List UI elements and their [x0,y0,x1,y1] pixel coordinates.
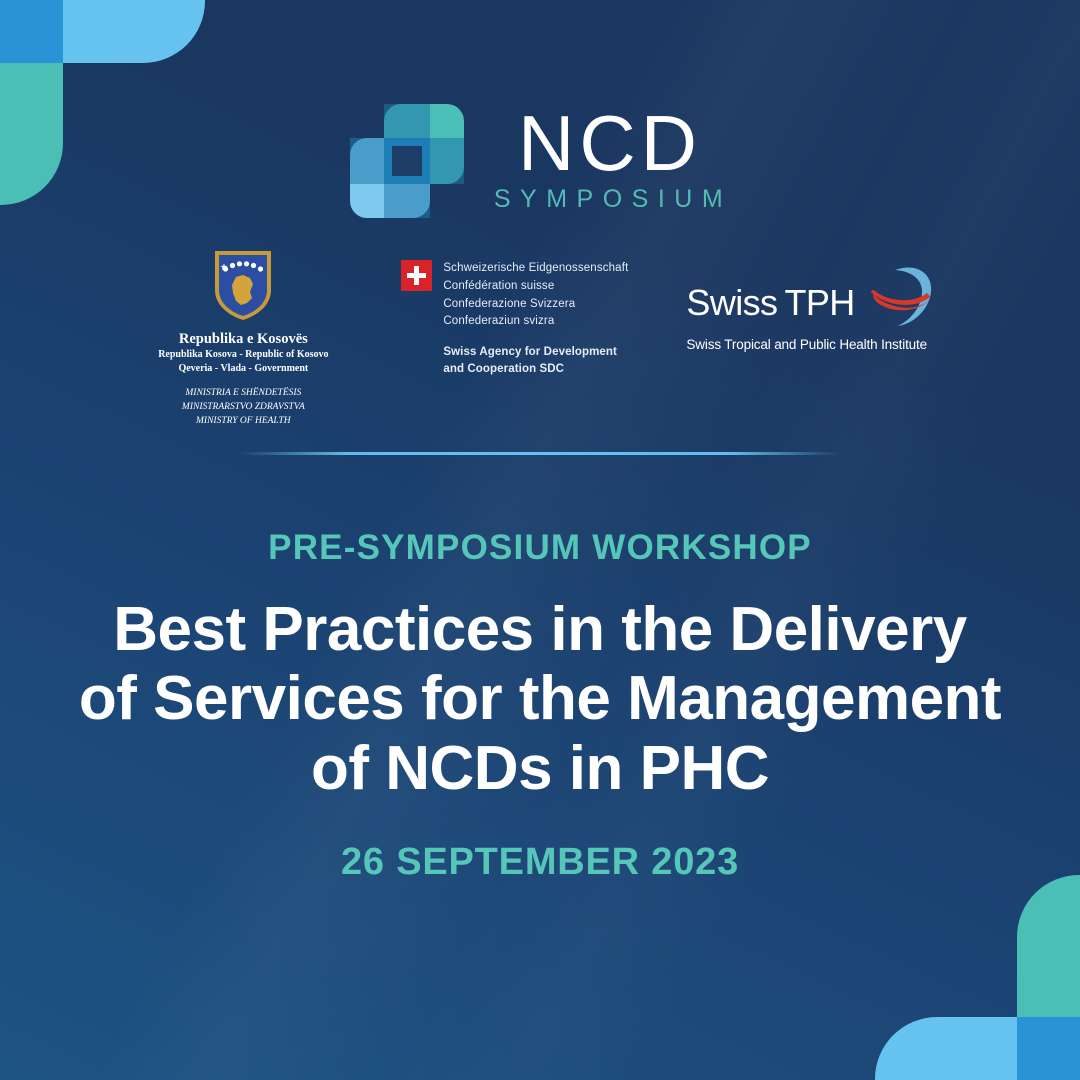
sdc-lang-de: Schweizerische Eidgenossenschaft [443,260,628,278]
tph-globe-icon [865,264,937,330]
swiss-flag-icon [401,260,432,291]
kosovo-ministry-en: MINISTRY OF HEALTH [143,415,343,429]
sdc-lang-it: Confederazione Svizzera [443,296,628,314]
ncd-logo-subtitle: SYMPOSIUM [488,185,732,214]
sdc-lang-fr: Confédération suisse [443,278,628,296]
tph-name-part1: Swiss [686,282,777,323]
event-title-line-1: Best Practices in the Delivery [40,595,1040,664]
poster-canvas: NCD SYMPOSIUM [0,0,1080,1080]
partner-swiss-tph: SwissTPH Swiss Tropical and Public Healt… [686,248,936,352]
sdc-agency-line2: and Cooperation SDC [443,361,628,378]
ncd-symposium-logo: NCD SYMPOSIUM [0,100,1080,218]
event-date: 26 SEPTEMBER 2023 [40,841,1040,884]
section-divider [240,452,840,455]
partner-logos: Republika e Kosovës Republika Kosova - R… [0,248,1080,428]
event-title-line-3: of NCDs in PHC [40,734,1040,803]
ncd-logo-mark-icon [348,100,466,218]
tph-name-part2: TPH [784,282,854,323]
event-eyebrow: PRE-SYMPOSIUM WORKSHOP [40,530,1040,565]
sdc-text-block: Schweizerische Eidgenossenschaft Confédé… [443,260,628,378]
poster-content: PRE-SYMPOSIUM WORKSHOP Best Practices in… [0,530,1080,884]
ncd-logo-title: NCD [518,106,702,180]
event-title-line-2: of Services for the Management [40,664,1040,733]
sdc-agency-line1: Swiss Agency for Development [443,344,628,361]
partner-swiss-sdc: Schweizerische Eidgenossenschaft Confédé… [401,248,628,378]
kosovo-ministry-sq: MINISTRIA E SHËNDETËSIS [143,387,343,401]
tph-subtitle: Swiss Tropical and Public Health Institu… [686,337,936,352]
event-title: Best Practices in the Delivery of Servic… [40,595,1040,803]
tph-name: SwissTPH [686,285,854,321]
kosovo-government: Qeveria - Vlada - Government [143,362,343,376]
sdc-lang-rm: Confederaziun svizra [443,313,628,331]
kosovo-ministry: MINISTRIA E SHËNDETËSIS MINISTRARSTVO ZD… [143,387,343,428]
logo-square-center [392,146,422,176]
corner-shape-bottom-right-teal [1017,875,1080,1017]
ncd-logo-wordmark: NCD SYMPOSIUM [488,106,732,213]
partner-kosovo: Republika e Kosovës Republika Kosova - R… [143,248,343,428]
kosovo-subtitle: Republika Kosova - Republic of Kosovo [143,348,343,362]
sdc-agency-name: Swiss Agency for Development and Coopera… [443,344,628,377]
corner-shape-bottom-right-square [1017,1017,1080,1080]
corner-shape-top-left-square [0,0,63,63]
kosovo-title: Republika e Kosovës [143,330,343,348]
kosovo-ministry-sr: MINISTRARSTVO ZDRAVSTVA [143,401,343,415]
sdc-languages: Schweizerische Eidgenossenschaft Confédé… [443,260,628,331]
kosovo-coat-of-arms-icon [212,248,274,322]
tph-logo-row: SwissTPH [686,276,936,330]
